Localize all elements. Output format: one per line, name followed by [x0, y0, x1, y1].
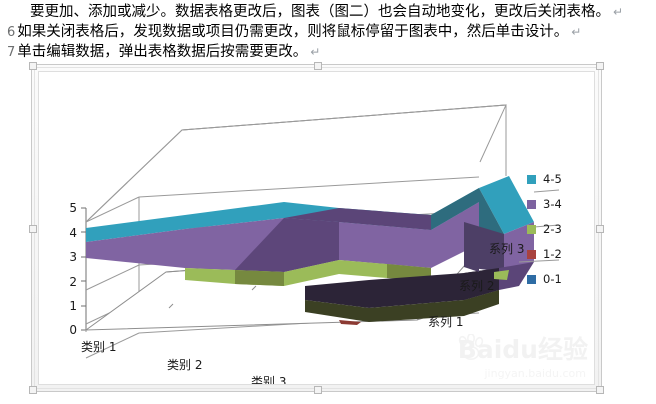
document-line-text: 单击编辑数据，弹出表格数据后按需要更改。	[17, 44, 307, 60]
legend-swatch-0-1	[527, 275, 536, 284]
resize-handle-bottom-middle[interactable]	[314, 386, 322, 394]
svg-text:1: 1	[69, 299, 77, 313]
legend-swatch-3-4	[527, 200, 536, 209]
legend-item[interactable]: 2-3	[527, 217, 562, 242]
legend-item[interactable]: 0-1	[527, 267, 562, 292]
paragraph-mark: ↵	[610, 5, 623, 19]
legend-label: 2-3	[543, 225, 562, 234]
document-line: 要更加、添加或减少。数据表格更改后，图表（图二）也会自动地变化，更改后关闭表格。…	[0, 2, 656, 22]
legend-swatch-1-2	[527, 250, 536, 259]
legend-swatch-2-3	[527, 225, 536, 234]
legend-label: 3-4	[543, 200, 562, 209]
document-line-text: 如果关闭表格后，发现数据或项目仍需更改，则将鼠标停留于图表中，然后单击设计。	[17, 24, 568, 40]
list-number: 6	[7, 25, 17, 40]
svg-text:3: 3	[69, 250, 77, 264]
svg-text:系列 3: 系列 3	[489, 242, 524, 256]
resize-handle-top-left[interactable]	[29, 62, 37, 70]
surface-chart-svg: 5 4 3 2 1 0 类别 1 类别 2 类别 3 类别 4 系列 3 系列 …	[39, 72, 595, 385]
svg-text:5: 5	[69, 201, 77, 215]
legend-label: 1-2	[543, 250, 562, 259]
chart-legend[interactable]: 4-5 3-4 2-3 1-2 0-1	[527, 167, 562, 292]
chart-value-axis	[81, 208, 86, 330]
document-text-block: 要更加、添加或减少。数据表格更改后，图表（图二）也会自动地变化，更改后关闭表格。…	[0, 0, 656, 62]
resize-handle-right-middle[interactable]	[596, 225, 604, 233]
z-axis-tick-labels: 5 4 3 2 1 0	[69, 201, 77, 337]
legend-item[interactable]: 3-4	[527, 192, 562, 217]
svg-text:2: 2	[69, 275, 77, 289]
legend-label: 0-1	[543, 275, 562, 284]
surface-chart-plot-area[interactable]: 5 4 3 2 1 0 类别 1 类别 2 类别 3 类别 4 系列 3 系列 …	[38, 71, 595, 385]
svg-text:类别 1: 类别 1	[81, 340, 116, 354]
list-number: 7	[7, 45, 17, 60]
chart-object-frame[interactable]: 5 4 3 2 1 0 类别 1 类别 2 类别 3 类别 4 系列 3 系列 …	[31, 64, 602, 392]
svg-text:系列 2: 系列 2	[459, 279, 494, 293]
category-axis-labels: 类别 1 类别 2 类别 3 类别 4	[81, 340, 370, 385]
resize-handle-top-right[interactable]	[596, 62, 604, 70]
document-line-text: 要更加、添加或减少。数据表格更改后，图表（图二）也会自动地变化，更改后关闭表格。	[30, 4, 610, 20]
svg-text:类别 2: 类别 2	[167, 358, 202, 372]
legend-item[interactable]: 4-5	[527, 167, 562, 192]
legend-label: 4-5	[543, 175, 562, 184]
resize-handle-left-middle[interactable]	[29, 225, 37, 233]
document-line: 6如果关闭表格后，发现数据或项目仍需更改，则将鼠标停留于图表中，然后单击设计。↵	[0, 22, 656, 42]
resize-handle-top-middle[interactable]	[314, 62, 322, 70]
svg-text:类别 3: 类别 3	[251, 375, 286, 385]
document-line: 7单击编辑数据，弹出表格数据后按需要更改。↵	[0, 42, 656, 62]
legend-item[interactable]: 1-2	[527, 242, 562, 267]
resize-handle-bottom-left[interactable]	[29, 386, 37, 394]
paragraph-mark: ↵	[307, 45, 320, 59]
svg-text:4: 4	[69, 226, 77, 240]
paragraph-mark: ↵	[568, 25, 581, 39]
resize-handle-bottom-right[interactable]	[596, 386, 604, 394]
svg-text:0: 0	[69, 323, 77, 337]
svg-text:系列 1: 系列 1	[428, 315, 463, 329]
legend-swatch-4-5	[527, 175, 536, 184]
